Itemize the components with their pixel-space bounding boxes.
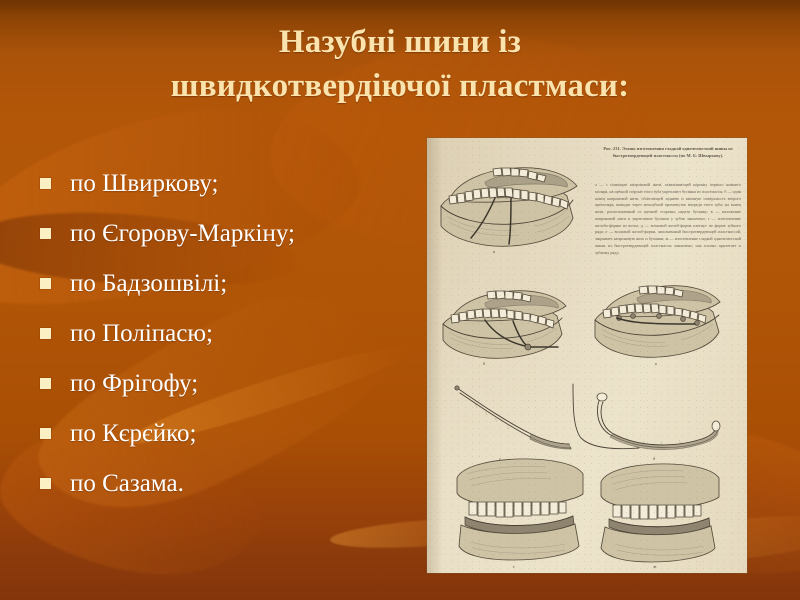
- mandible-model-with-ligature: а: [441, 168, 577, 254]
- square-bullet-icon: [40, 428, 51, 439]
- list-item[interactable]: по Швиркову;: [40, 158, 420, 208]
- square-bullet-icon: [40, 178, 51, 189]
- square-bullet-icon: [40, 278, 51, 289]
- square-bullet-icon: [40, 328, 51, 339]
- svg-text:в: в: [655, 361, 657, 366]
- svg-text:ж: ж: [653, 564, 657, 569]
- wax-trough-form-straight: г: [455, 386, 571, 461]
- dental-illustrations: а: [427, 138, 747, 573]
- square-bullet-icon: [40, 478, 51, 489]
- square-bullet-icon: [40, 378, 51, 389]
- list-item[interactable]: по Фрігофу;: [40, 358, 420, 408]
- list-item-label: по Кєрєйко;: [70, 421, 196, 446]
- svg-text:б: б: [483, 361, 486, 366]
- slide-root: Назубні шини із швидкотвердіючої пластма…: [0, 0, 800, 600]
- slide-title-line-2: швидкотвердіючої пластмаси:: [60, 64, 740, 108]
- list-item-label: по Єгорову-Маркіну;: [70, 221, 295, 246]
- list-item[interactable]: по Бадзошвілі;: [40, 258, 420, 308]
- svg-text:а: а: [493, 249, 495, 254]
- svg-text:е: е: [513, 564, 515, 569]
- articulated-jaws-splint-right: ж: [601, 464, 719, 569]
- list-item-label: по Бадзошвілі;: [70, 271, 227, 296]
- mandible-model-bead-left: б: [443, 291, 566, 366]
- mandible-model-bead-right: в: [595, 286, 720, 366]
- list-item[interactable]: по Кєрєйко;: [40, 408, 420, 458]
- list-item[interactable]: по Єгорову-Маркіну;: [40, 208, 420, 258]
- list-item-label: по Швиркову;: [70, 171, 218, 196]
- scanned-figure-image[interactable]: Рис. 231. Этапы изготовления гладкой одн…: [427, 138, 747, 573]
- list-item[interactable]: по Сазама.: [40, 458, 420, 508]
- slide-title: Назубні шини із швидкотвердіючої пластма…: [60, 20, 740, 108]
- list-item[interactable]: по Поліпасю;: [40, 308, 420, 358]
- list-item-label: по Сазама.: [70, 471, 184, 496]
- articulated-jaws-splint-left: е: [457, 459, 583, 569]
- bullet-list: по Швиркову; по Єгорову-Маркіну; по Бадз…: [40, 158, 420, 508]
- wax-trough-form-curved: д: [573, 384, 720, 461]
- slide-title-line-1: Назубні шини із: [60, 20, 740, 64]
- svg-text:д: д: [653, 456, 655, 461]
- square-bullet-icon: [40, 228, 51, 239]
- list-item-label: по Поліпасю;: [70, 321, 213, 346]
- list-item-label: по Фрігофу;: [70, 371, 198, 396]
